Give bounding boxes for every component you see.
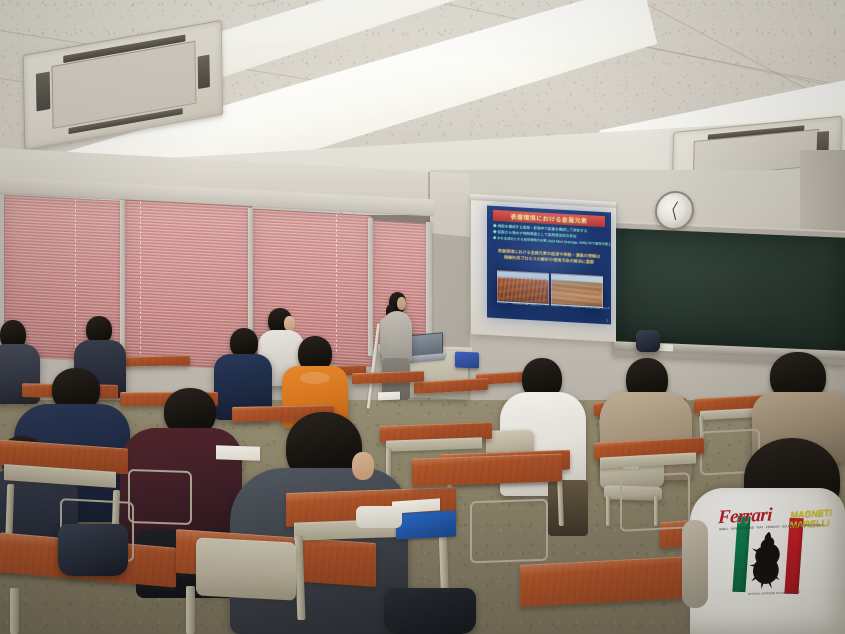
projected-slide: 表層環境における金属元素 ◆ 地殻を構成する金属・鉱物中で鉱量を構成して存在する… <box>487 206 611 325</box>
backpack[interactable] <box>58 524 128 576</box>
desk[interactable] <box>120 355 190 366</box>
legs <box>548 480 588 536</box>
slide-photo-caption-left: ハマスレー一帯赤鉄鉱の露天掘鉱山 (オーストラリア) <box>497 301 559 308</box>
slide-photo-left-texture <box>497 276 547 303</box>
notebook[interactable] <box>396 510 456 539</box>
presenter-face <box>397 297 406 310</box>
hand <box>352 452 374 480</box>
white-cloth <box>356 506 402 528</box>
blue-storage-crate <box>455 352 479 369</box>
chair-back[interactable] <box>196 537 296 600</box>
slide-page-number: 1 <box>606 318 608 322</box>
magneti-marelli-sponsor-text: MAGNETI MARELLI <box>789 506 845 532</box>
paper-sheet[interactable] <box>216 445 260 461</box>
hood <box>300 372 330 384</box>
slide-photo-right-texture <box>551 279 601 306</box>
chair-frame[interactable] <box>620 472 690 532</box>
classroom-photograph: 表層環境における金属元素 ◆ 地殻を構成する金属・鉱物中で鉱量を構成して存在する… <box>0 0 845 634</box>
chair-frame[interactable] <box>470 499 548 564</box>
slide-title: 表層環境における金属元素 <box>511 212 588 225</box>
desk[interactable] <box>412 453 562 486</box>
paper-sheet[interactable] <box>378 392 400 401</box>
presenter-arm <box>380 318 389 356</box>
backpack[interactable] <box>636 330 660 352</box>
chair-arm <box>682 520 708 608</box>
slide-highlight-text: 表層環境における金属元素の起源や移動・濃集の理解は 精錬形成プロセスの解析や環境… <box>497 248 601 273</box>
chair-frame[interactable] <box>128 469 192 525</box>
desk-leg <box>10 588 19 634</box>
window-mullion <box>120 200 125 365</box>
prancing-horse-icon <box>748 530 788 592</box>
chair-leg <box>606 496 610 526</box>
face <box>284 316 295 331</box>
window-mullion <box>368 218 373 356</box>
desk-leg <box>186 586 195 634</box>
backpack[interactable] <box>384 588 476 634</box>
